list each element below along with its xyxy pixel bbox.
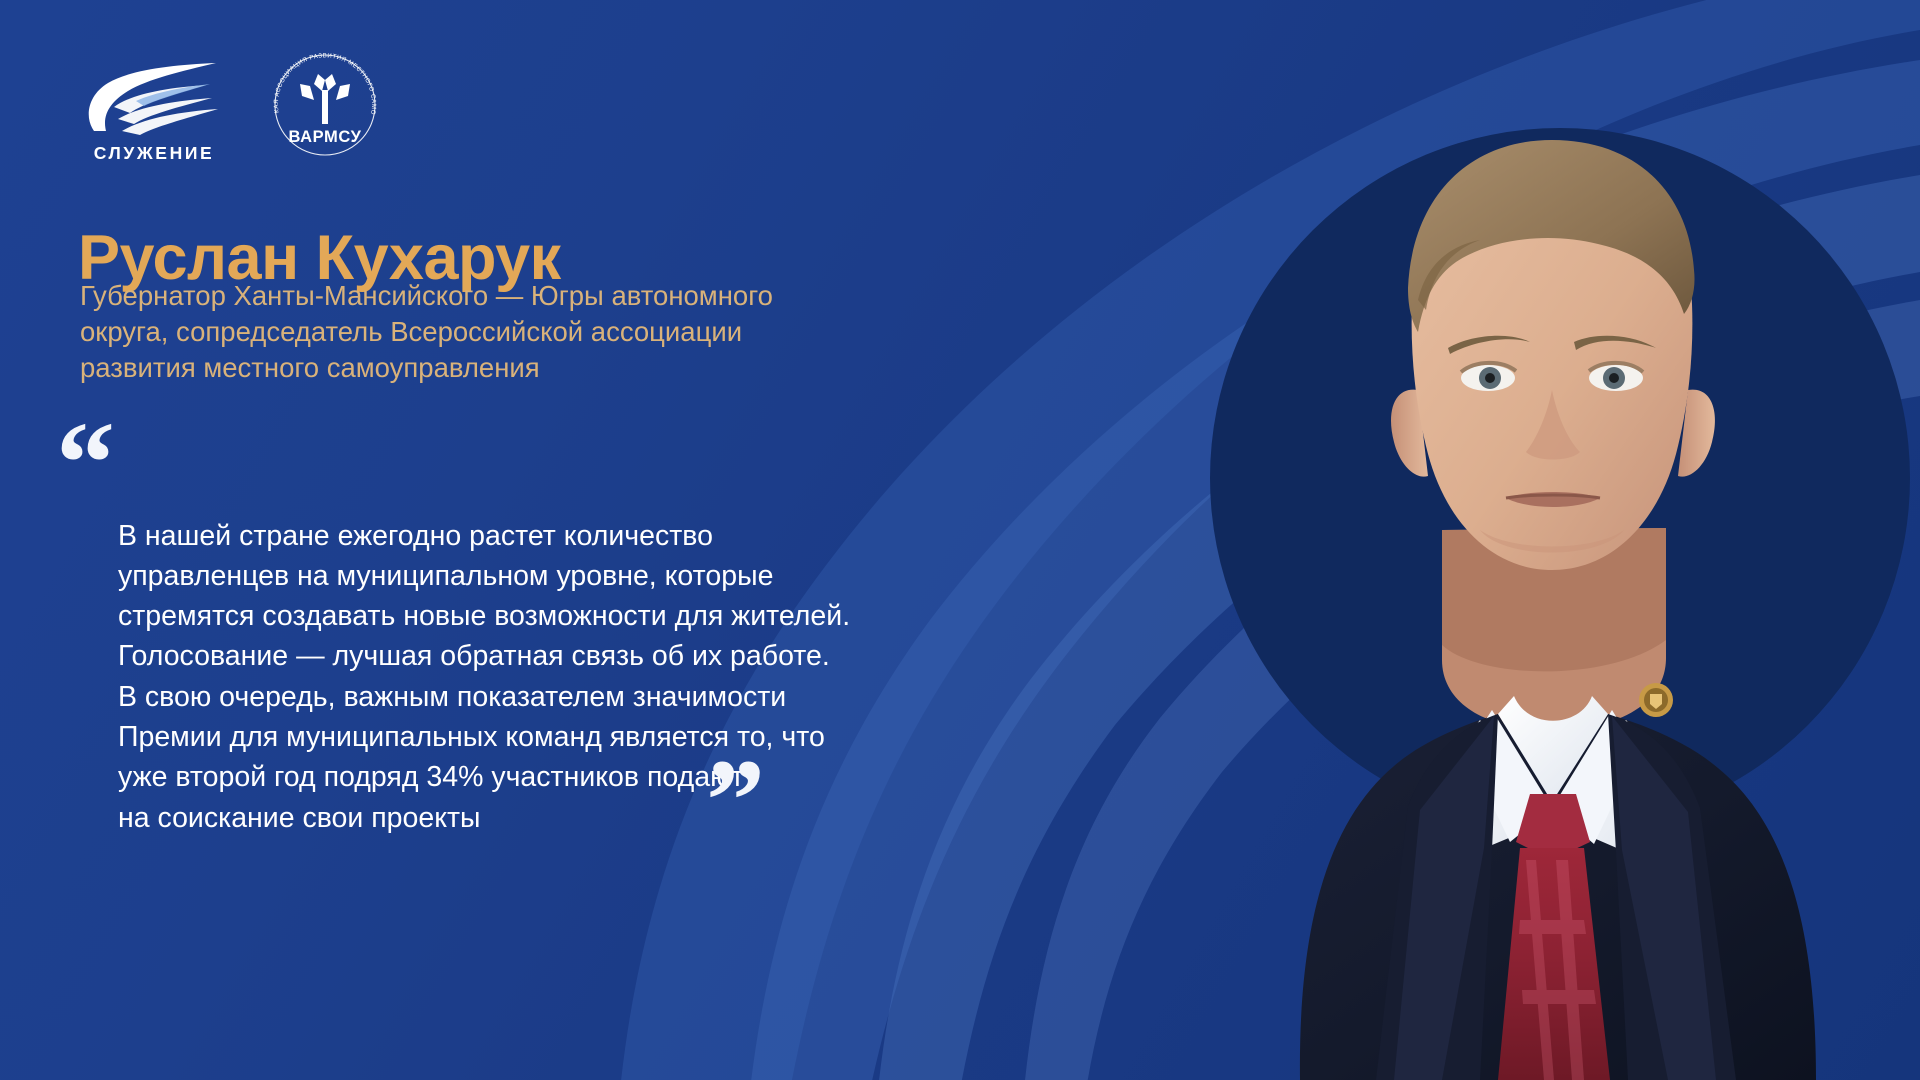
wheat-sprout-icon bbox=[300, 74, 350, 124]
quote-line: на соискание свои проекты bbox=[118, 798, 908, 838]
quote-line: уже второй год подряд 34% участников под… bbox=[118, 757, 908, 797]
quote-line: В нашей стране ежегодно растет количеств… bbox=[118, 516, 908, 556]
logo-varmsu[interactable]: ВСЕРОССИЙСКАЯ АССОЦИАЦИЯ РАЗВИТИЯ МЕСТНО… bbox=[266, 46, 384, 164]
logo-sluzhenie[interactable]: СЛУЖЕНИЕ bbox=[78, 61, 230, 164]
quote-line: управленцев на муниципальном уровне, кот… bbox=[118, 556, 908, 596]
quote-line: стремятся создавать новые возможности дл… bbox=[118, 596, 908, 636]
logo-group: СЛУЖЕНИЕ ВСЕРОССИЙСКАЯ АССОЦИАЦИЯ РАЗВИТ… bbox=[78, 46, 384, 164]
portrait-photo bbox=[1180, 60, 1920, 1080]
logo-varmsu-wordmark: ВАРМСУ bbox=[288, 128, 361, 146]
quote-line: Голосование — лучшая обратная связь об и… bbox=[118, 636, 908, 676]
quote-close-mark: ” bbox=[706, 742, 765, 860]
quote-text: В нашей стране ежегодно растет количеств… bbox=[118, 516, 908, 839]
person-title-line: развития местного самоуправления bbox=[80, 350, 870, 386]
person-title-line: округа, сопредседатель Всероссийской асс… bbox=[80, 314, 870, 350]
logo-sluzhenie-wordmark: СЛУЖЕНИЕ bbox=[78, 143, 230, 164]
quote-open-mark: “ bbox=[56, 404, 115, 522]
person-title: Губернатор Ханты-Мансийского — Югры авто… bbox=[80, 278, 870, 385]
person-title-line: Губернатор Ханты-Мансийского — Югры авто… bbox=[80, 278, 870, 314]
quote-line: В свою очередь, важным показателем значи… bbox=[118, 677, 908, 717]
quote-line: Премии для муниципальных команд является… bbox=[118, 717, 908, 757]
quote-card: СЛУЖЕНИЕ ВСЕРОССИЙСКАЯ АССОЦИАЦИЯ РАЗВИТ… bbox=[0, 0, 1920, 1080]
wing-swoosh-icon bbox=[78, 61, 230, 139]
